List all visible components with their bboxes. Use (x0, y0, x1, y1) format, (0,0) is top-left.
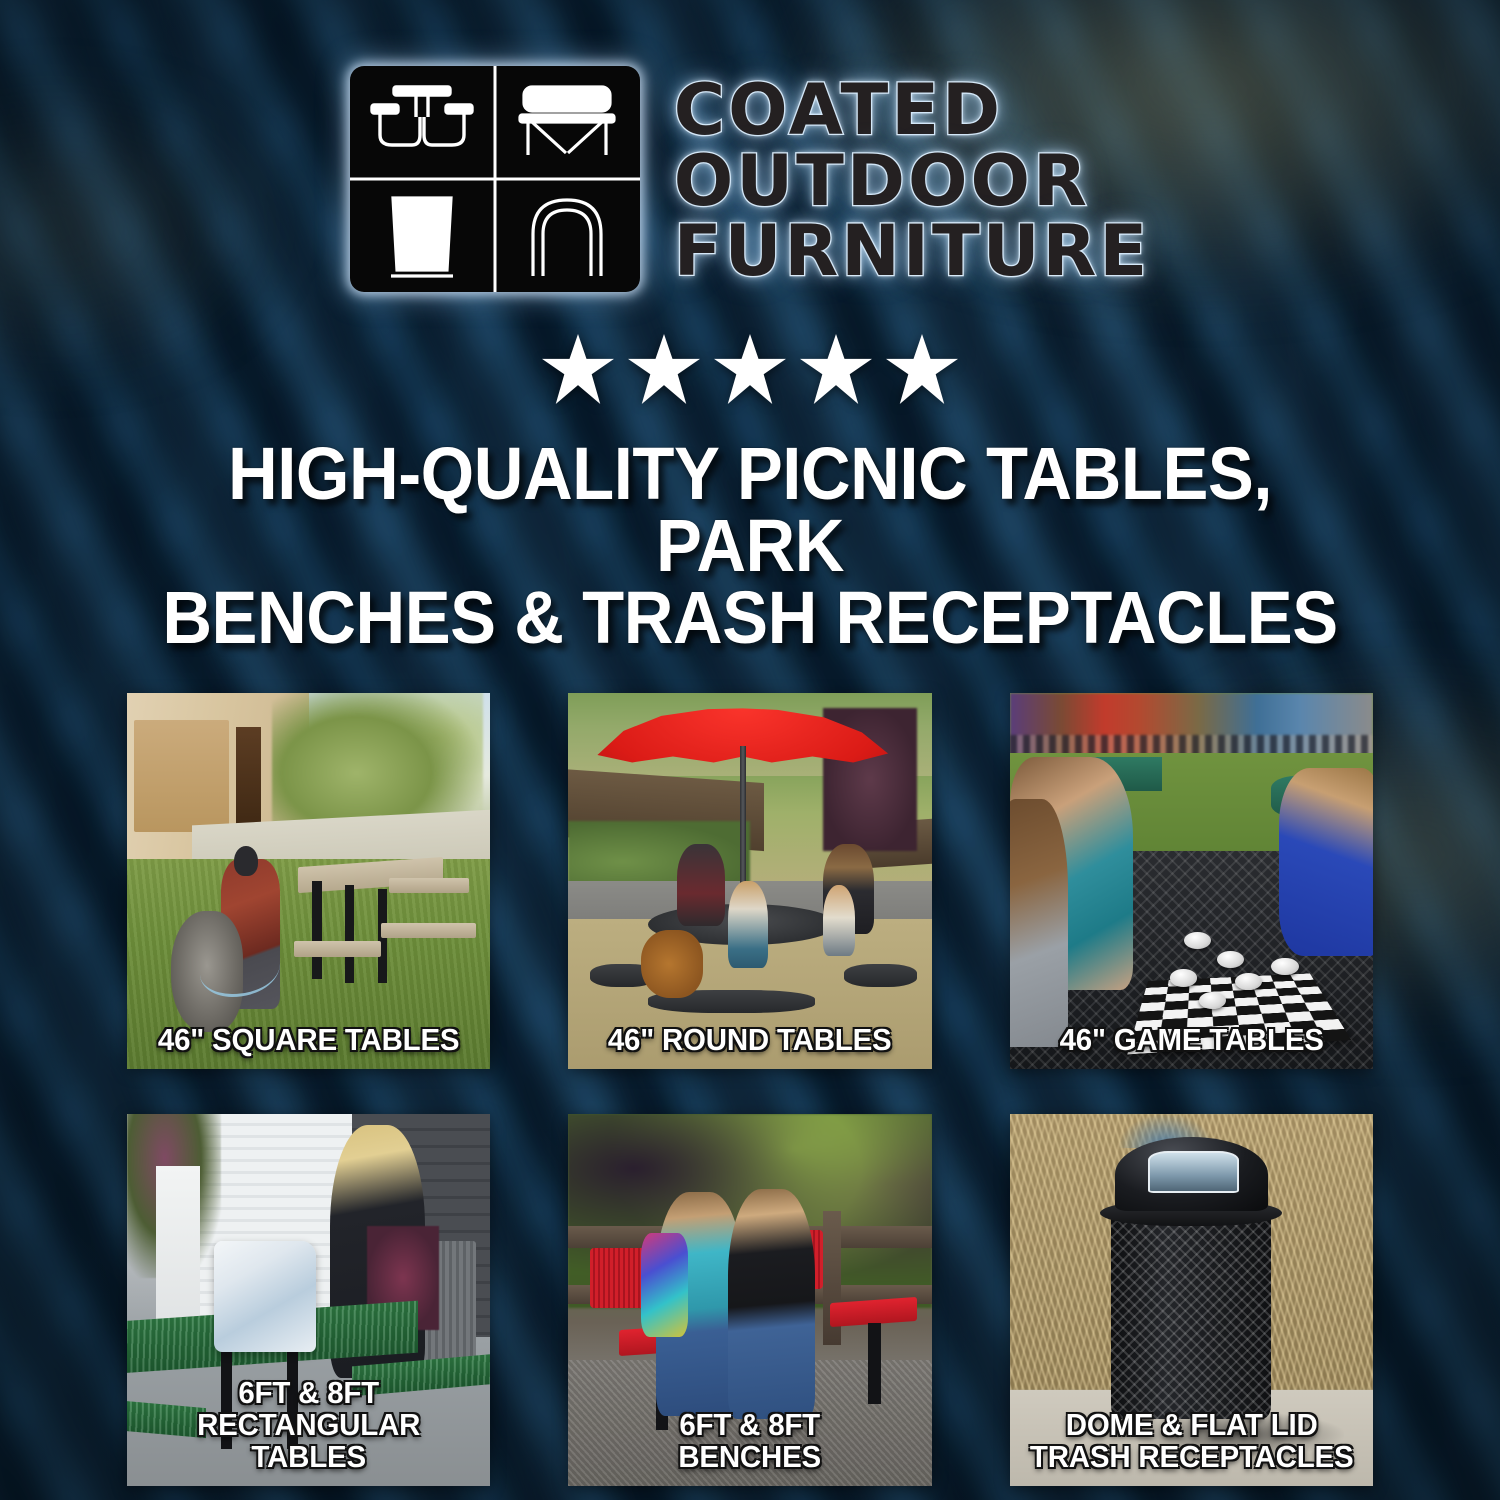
caption-line-1: DOME & FLAT LID (1024, 1409, 1358, 1441)
headline: HIGH-QUALITY PICNIC TABLES, PARK BENCHES… (150, 438, 1350, 653)
caption-line-2: TRASH RECEPTACLES (1024, 1441, 1358, 1473)
product-caption: 46" SQUARE TABLES (136, 1024, 481, 1056)
product-tile-benches[interactable]: 6FT & 8FT BENCHES (568, 1114, 931, 1486)
product-grid: 46" SQUARE TABLES (127, 693, 1373, 1486)
star-icon-3 (714, 334, 786, 404)
promo-poster: COATED OUTDOOR FURNITURE HIGH-QUALITY PI… (0, 0, 1500, 1500)
brand-logo: COATED OUTDOOR FURNITURE (350, 66, 1151, 292)
logo-word-furniture: FURNITURE (674, 217, 1151, 286)
park-bench-icon (495, 66, 640, 179)
logo-word-outdoor: OUTDOOR (674, 147, 1151, 216)
product-tile-game-tables[interactable]: 46" GAME TABLES (1010, 693, 1373, 1069)
product-tile-square-tables[interactable]: 46" SQUARE TABLES (127, 693, 490, 1069)
product-caption: 6FT & 8FT BENCHES (577, 1409, 922, 1472)
caption-line-1: 46" GAME TABLES (1024, 1024, 1358, 1056)
star-icon-4 (800, 334, 872, 404)
product-caption: 46" ROUND TABLES (577, 1024, 922, 1056)
star-icon-1 (542, 334, 614, 404)
caption-line-1: 46" ROUND TABLES (583, 1024, 917, 1056)
bike-rack-icon (495, 179, 640, 292)
star-icon-2 (628, 334, 700, 404)
caption-line-2: RECTANGULAR TABLES (142, 1409, 476, 1472)
product-caption: 46" GAME TABLES (1019, 1024, 1364, 1056)
product-caption: DOME & FLAT LID TRASH RECEPTACLES (1019, 1409, 1364, 1472)
logo-word-coated: COATED (674, 76, 1151, 145)
logo-icon-grid (350, 66, 640, 292)
product-photo (568, 693, 931, 1069)
product-tile-round-tables[interactable]: 46" ROUND TABLES (568, 693, 931, 1069)
product-photo (1010, 693, 1373, 1069)
product-tile-rectangular-tables[interactable]: 6FT & 8FT RECTANGULAR TABLES (127, 1114, 490, 1486)
star-icon-5 (886, 334, 958, 404)
trash-receptacle-icon (350, 179, 495, 292)
caption-line-1: 6FT & 8FT (142, 1377, 476, 1409)
caption-line-1: 46" SQUARE TABLES (142, 1024, 476, 1056)
product-photo (127, 693, 490, 1069)
headline-line-2: BENCHES & TRASH RECEPTACLES (150, 582, 1350, 654)
picnic-table-icon (350, 66, 495, 179)
star-rating (542, 334, 958, 404)
headline-line-1: HIGH-QUALITY PICNIC TABLES, PARK (150, 438, 1350, 582)
caption-line-1: 6FT & 8FT (583, 1409, 917, 1441)
caption-line-2: BENCHES (583, 1441, 917, 1473)
product-caption: 6FT & 8FT RECTANGULAR TABLES (136, 1377, 481, 1472)
product-tile-trash-receptacles[interactable]: DOME & FLAT LID TRASH RECEPTACLES (1010, 1114, 1373, 1486)
